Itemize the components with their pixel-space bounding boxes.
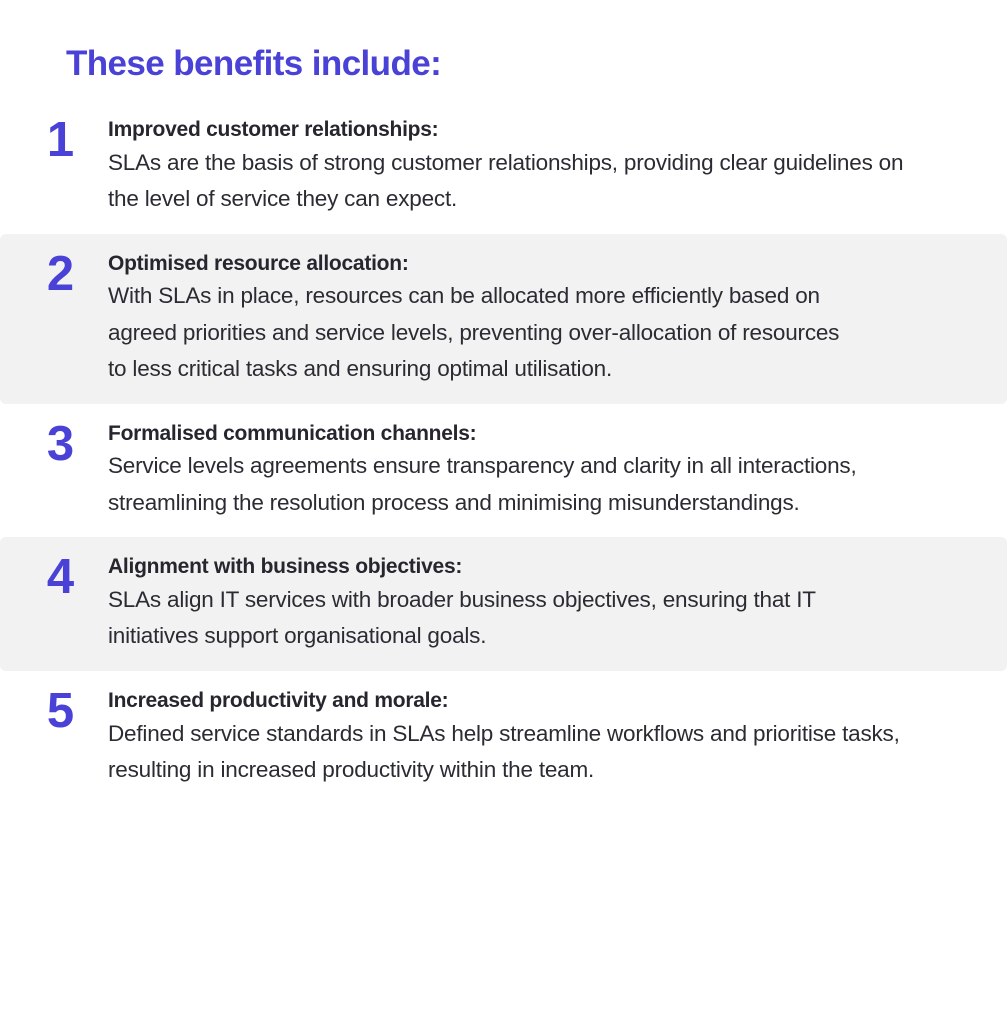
benefit-description: SLAs align IT services with broader busi…	[108, 582, 848, 655]
benefit-description: Service levels agreements ensure transpa…	[108, 448, 898, 521]
list-item: 2 Optimised resource allocation: With SL…	[0, 234, 1007, 404]
benefit-number: 1	[12, 114, 108, 164]
page-title: These benefits include:	[66, 43, 441, 85]
list-item: 4 Alignment with business objectives: SL…	[0, 537, 1007, 671]
list-item: 1 Improved customer relationships: SLAs …	[0, 100, 1007, 234]
benefit-description: With SLAs in place, resources can be all…	[108, 278, 853, 387]
benefit-description: Defined service standards in SLAs help s…	[108, 716, 908, 789]
list-item: 5 Increased productivity and morale: Def…	[0, 671, 1007, 805]
benefit-title: Alignment with business objectives:	[108, 553, 969, 581]
benefit-number: 5	[12, 685, 108, 735]
benefit-title: Improved customer relationships:	[108, 116, 969, 144]
benefit-content: Formalised communication channels: Servi…	[108, 418, 995, 522]
benefit-content: Improved customer relationships: SLAs ar…	[108, 114, 995, 218]
benefit-number: 3	[12, 418, 108, 468]
benefit-content: Increased productivity and morale: Defin…	[108, 685, 995, 789]
benefit-number: 4	[12, 551, 108, 601]
benefits-list: 1 Improved customer relationships: SLAs …	[0, 100, 1007, 804]
benefit-title: Optimised resource allocation:	[108, 250, 969, 278]
list-item: 3 Formalised communication channels: Ser…	[0, 404, 1007, 538]
benefit-title: Formalised communication channels:	[108, 420, 969, 448]
benefits-page: These benefits include: 1 Improved custo…	[0, 0, 1007, 1024]
benefit-content: Alignment with business objectives: SLAs…	[108, 551, 995, 655]
benefit-description: SLAs are the basis of strong customer re…	[108, 145, 920, 218]
benefit-title: Increased productivity and morale:	[108, 687, 969, 715]
benefit-content: Optimised resource allocation: With SLAs…	[108, 248, 995, 388]
benefit-number: 2	[12, 248, 108, 298]
